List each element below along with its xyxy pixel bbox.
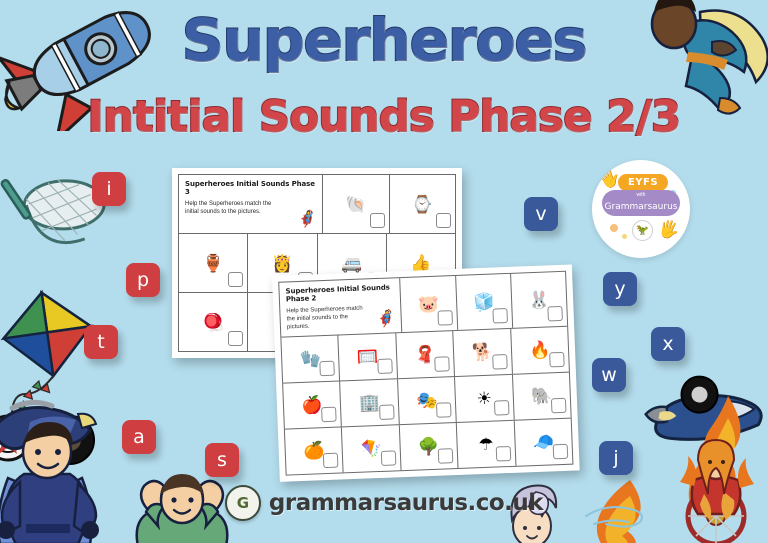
letter-tile-i[interactable]: i	[92, 172, 126, 206]
net-icon: 🥅	[357, 348, 379, 366]
answer-box[interactable]	[553, 444, 569, 460]
hero-figure-icon: 🦸‍♀️	[297, 209, 317, 229]
eyfs-badge: 🖐 🖐 EYFS Grammarsaurus with 🦖	[592, 160, 690, 258]
answer-box[interactable]	[228, 331, 243, 346]
picture-cell-tree[interactable]: 🌳	[400, 423, 459, 470]
picture-cell-shell[interactable]: 🐚	[323, 175, 390, 233]
picture-cell-buildings[interactable]: 🏢	[341, 379, 400, 426]
picture-cell-pig[interactable]: 🐷	[401, 276, 458, 332]
worksheet-row: Superheroes Initial Sounds Phase 3 Help …	[179, 175, 455, 234]
dot-yellow	[622, 234, 627, 239]
answer-box[interactable]	[547, 306, 563, 322]
letter-tile-s[interactable]: s	[205, 443, 239, 477]
letter-tile-x[interactable]: x	[651, 327, 685, 361]
dog-icon: 🐕	[472, 344, 494, 362]
footer-branding: G grammarsaurus.co.uk	[0, 485, 768, 521]
worksheet-instruction: Help the Superheroes match the initial s…	[286, 304, 365, 331]
answer-box[interactable]	[492, 308, 508, 324]
picture-cell-yoyo[interactable]: 🪀	[179, 293, 248, 351]
letter-tile-w[interactable]: w	[592, 358, 626, 392]
worksheet-row: 🍊 🪁 🌳 ☂ 🧢	[285, 419, 573, 475]
picture-cell-umbrella[interactable]: ☂	[457, 421, 516, 468]
answer-box[interactable]	[434, 356, 450, 372]
picture-cell-elephant[interactable]: 🐘	[513, 373, 571, 420]
tree-icon: 🌳	[418, 438, 440, 456]
handprint-pink-icon: 🖐	[655, 217, 681, 243]
answer-box[interactable]	[492, 354, 508, 370]
cap-icon: 🧢	[532, 433, 554, 451]
answer-box[interactable]	[438, 448, 454, 464]
answer-box[interactable]	[321, 407, 337, 423]
sun-icon: ☀	[476, 390, 492, 408]
picture-cell-rabbit[interactable]: 🐰	[511, 272, 567, 328]
van-icon: 🚐	[341, 255, 362, 272]
elephant-icon: 🐘	[531, 387, 553, 405]
answer-box[interactable]	[436, 402, 452, 418]
answer-box[interactable]	[379, 405, 395, 421]
jug-icon: 🏺	[203, 255, 224, 272]
picture-cell-cap[interactable]: 🧢	[514, 419, 572, 466]
queen-icon: 👸	[272, 255, 293, 272]
thumb-icon: 👍	[410, 255, 431, 272]
letter-tile-v[interactable]: v	[524, 197, 558, 231]
eyfs-label: EYFS	[618, 174, 668, 191]
pig-icon: 🐷	[418, 295, 440, 313]
picture-cell-apple[interactable]: 🍎	[283, 382, 342, 429]
gloves-icon: 🧤	[300, 350, 322, 368]
letter-tile-t[interactable]: t	[84, 325, 118, 359]
watch-icon: ⌚	[412, 196, 433, 213]
picture-cell-net[interactable]: 🥅	[339, 334, 398, 381]
answer-box[interactable]	[436, 213, 451, 228]
picture-cell-jug[interactable]: 🏺	[179, 234, 248, 292]
worksheet-title: Superheroes Initial Sounds Phase 2	[285, 283, 394, 303]
answer-box[interactable]	[494, 400, 510, 416]
answer-box[interactable]	[551, 398, 567, 414]
with-label: with	[592, 192, 690, 198]
apple-icon: 🍎	[301, 396, 323, 414]
picture-cell-dog[interactable]: 🐕	[453, 329, 512, 376]
dot-orange	[610, 224, 618, 232]
answer-box[interactable]	[370, 213, 385, 228]
poster-canvas: Superheroes Intitial Sounds Phase 2/3 i …	[0, 0, 768, 543]
picture-cell-ice[interactable]: 🧊	[456, 274, 513, 330]
rabbit-icon: 🐰	[528, 291, 550, 309]
picture-cell-cape[interactable]: 🧣	[396, 331, 455, 378]
cape-icon: 🧣	[414, 346, 436, 364]
worksheet-title: Superheroes Initial Sounds Phase 3	[185, 180, 316, 196]
yoyo-icon: 🪀	[203, 314, 224, 331]
letter-tile-j[interactable]: j	[599, 441, 633, 475]
answer-box[interactable]	[320, 361, 336, 377]
letter-tile-a[interactable]: a	[122, 420, 156, 454]
answer-box[interactable]	[437, 310, 453, 326]
buildings-icon: 🏢	[359, 394, 381, 412]
worksheet-header: Superheroes Initial Sounds Phase 3 Help …	[179, 175, 323, 233]
mask-icon: 🎭	[416, 392, 438, 410]
answer-box[interactable]	[323, 453, 339, 469]
picture-cell-kite[interactable]: 🪁	[342, 425, 401, 472]
worksheet-header: Superheroes Initial Sounds Phase 2 Help …	[279, 278, 402, 337]
worksheet-instruction: Help the Superheroes match the initial s…	[185, 200, 279, 216]
answer-box[interactable]	[377, 359, 393, 375]
hero-figure-icon: 🦸	[376, 309, 397, 330]
ice-icon: 🧊	[473, 293, 495, 311]
page-subtitle: Intitial Sounds Phase 2/3	[0, 92, 768, 142]
answer-box[interactable]	[549, 352, 565, 368]
picture-cell-watch[interactable]: ⌚	[390, 175, 456, 233]
picture-cell-orange[interactable]: 🍊	[285, 428, 344, 475]
picture-cell-fire[interactable]: 🔥	[511, 327, 569, 374]
dino-logo-icon: 🦖	[632, 220, 653, 241]
letter-tile-y[interactable]: y	[603, 272, 637, 306]
answer-box[interactable]	[381, 450, 397, 466]
grammarsaurus-logo-icon: G	[225, 485, 261, 521]
page-title: Superheroes	[0, 6, 768, 74]
website-url: grammarsaurus.co.uk	[269, 490, 543, 516]
picture-cell-mask[interactable]: 🎭	[398, 377, 457, 424]
fire-icon: 🔥	[529, 342, 551, 360]
orange-icon: 🍊	[303, 442, 325, 460]
letter-tile-p[interactable]: p	[126, 263, 160, 297]
answer-box[interactable]	[495, 446, 511, 462]
picture-cell-gloves[interactable]: 🧤	[281, 336, 340, 383]
kite-icon: 🪁	[360, 440, 382, 458]
answer-box[interactable]	[228, 272, 243, 287]
umbrella-icon: ☂	[478, 436, 494, 454]
picture-cell-sun[interactable]: ☀	[455, 375, 514, 422]
shell-icon: 🐚	[345, 196, 366, 213]
superhero-blue-icon	[0, 420, 106, 543]
worksheet-phase-2[interactable]: Superheroes Initial Sounds Phase 2 Help …	[272, 264, 580, 481]
